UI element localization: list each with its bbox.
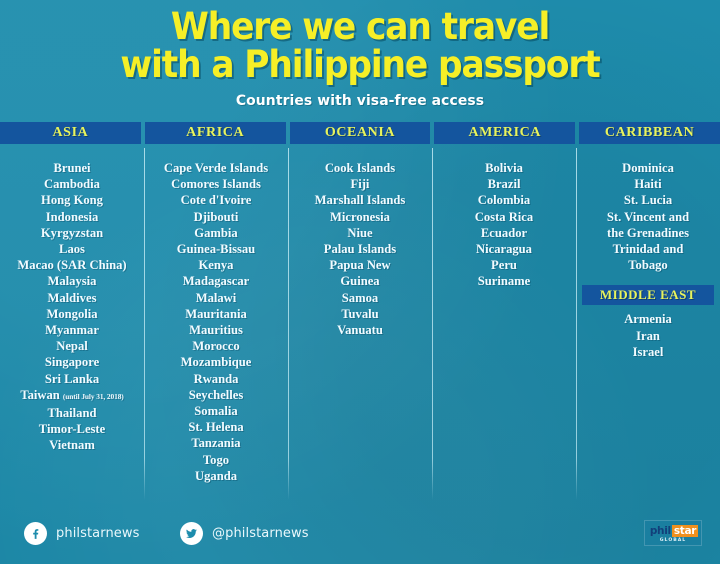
country-name: Vietnam [49,438,95,452]
country-entry: Mauritania [144,306,288,322]
column-africa: Cape Verde IslandsComores IslandsCote d'… [144,152,288,500]
column-america: BoliviaBrazilColombiaCosta RicaEcuadorNi… [432,152,576,500]
column-header-label: OCEANIA [325,125,395,141]
country-name: Trinidad and [613,242,684,256]
country-entry: Samoa [288,290,432,306]
country-entry: Kyrgyzstan [0,225,144,241]
country-entry: St. Vincent and [576,209,720,225]
twitter-link[interactable]: @philstarnews [180,522,309,545]
country-name: Micronesia [330,210,390,224]
country-entry: Brunei [0,160,144,176]
country-name: Brazil [488,177,521,191]
column-header-label: AFRICA [186,125,244,141]
country-name: Laos [59,242,85,256]
country-entry: Hong Kong [0,192,144,208]
column-header-caribbean: CARIBBEAN [579,122,720,144]
twitter-handle: @philstarnews [212,526,309,541]
country-note: (until July 31, 2018) [63,392,124,401]
country-name: Morocco [192,339,239,353]
country-entry: Haiti [576,176,720,192]
country-entry: Brazil [432,176,576,192]
country-entry: Sri Lanka [0,371,144,387]
country-name: St. Lucia [624,193,672,207]
philstar-logo: phil star GLOBAL [644,520,702,546]
country-entry: Maldives [0,290,144,306]
country-entry: Cote d'Ivoire [144,192,288,208]
country-entry: Colombia [432,192,576,208]
country-entry: Dominica [576,160,720,176]
country-entry: Rwanda [144,371,288,387]
country-name: St. Helena [188,420,243,434]
country-name: Israel [633,345,664,359]
country-entry: Cape Verde Islands [144,160,288,176]
infographic-root: Where we can travel with a Philippine pa… [0,0,720,564]
country-name: Timor-Leste [39,422,105,436]
country-entry: Niue [288,225,432,241]
country-entry: Comores Islands [144,176,288,192]
footer-bar: philstarnews @philstarnews phil star GLO… [0,504,720,564]
country-entry: St. Lucia [576,192,720,208]
logo-text-star: star [672,525,698,537]
country-name: Macao (SAR China) [17,258,126,272]
country-name: Maldives [48,291,97,305]
country-entry: Guinea-Bissau [144,241,288,257]
country-name: Somalia [194,404,237,418]
country-name: Tuvalu [341,307,378,321]
title-block: Where we can travel with a Philippine pa… [0,8,720,109]
country-entry: Cambodia [0,176,144,192]
country-name: Ecuador [481,226,527,240]
country-entry: Madagascar [144,273,288,289]
country-entry: Ecuador [432,225,576,241]
column-header-asia: ASIA [0,122,141,144]
country-name: Malaysia [48,274,97,288]
country-name: Haiti [634,177,661,191]
country-name: Uganda [195,469,237,483]
country-entry: Tobago [576,257,720,273]
country-name: Dominica [622,161,674,175]
country-entry: Israel [576,344,720,360]
country-entry: Trinidad and [576,241,720,257]
twitter-icon [180,522,203,545]
country-name: Tobago [628,258,667,272]
country-name: Bolivia [485,161,523,175]
country-name: Brunei [53,161,90,175]
country-entry: Myanmar [0,322,144,338]
country-entry: Laos [0,241,144,257]
country-name: Vanuatu [337,323,383,337]
country-name: Taiwan [20,388,59,402]
country-name: Gambia [194,226,237,240]
country-entry: Armenia [576,311,720,327]
country-name: Colombia [478,193,530,207]
country-name: Palau Islands [324,242,396,256]
country-name: Nicaragua [476,242,532,256]
country-entry: Kenya [144,257,288,273]
country-entry: Fiji [288,176,432,192]
country-name: Mauritania [185,307,247,321]
country-name: Mongolia [46,307,97,321]
sub-header-label: MIDDLE EAST [600,287,696,303]
country-entry: Mozambique [144,354,288,370]
column-header-band: ASIAAFRICAOCEANIAAMERICACARIBBEAN [0,122,720,144]
column-header-africa: AFRICA [145,122,286,144]
country-entry: Costa Rica [432,209,576,225]
country-entry: Iran [576,328,720,344]
country-name: Thailand [47,406,96,420]
country-entry: Tanzania [144,435,288,451]
page-subtitle: Countries with visa-free access [14,93,705,109]
column-asia: BruneiCambodiaHong KongIndonesiaKyrgyzst… [0,152,144,500]
country-name: Cape Verde Islands [164,161,268,175]
country-name: Peru [491,258,517,272]
country-name: Samoa [342,291,378,305]
column-oceania: Cook IslandsFijiMarshall IslandsMicrones… [288,152,432,500]
country-name: Armenia [624,312,672,326]
country-entry: Djibouti [144,209,288,225]
country-entry: Nepal [0,338,144,354]
logo-text-phil: phil [648,525,672,537]
country-entry: Tuvalu [288,306,432,322]
country-name: the Grenadines [607,226,689,240]
country-entry: Nicaragua [432,241,576,257]
country-entry: Peru [432,257,576,273]
country-entry: Vanuatu [288,322,432,338]
country-name: Nepal [56,339,87,353]
country-name: Papua New [329,258,390,272]
country-entry: Vietnam [0,437,144,453]
country-name: Tanzania [191,436,240,450]
country-entry: the Grenadines [576,225,720,241]
country-name: Togo [203,453,229,467]
country-entry: Marshall Islands [288,192,432,208]
logo-tagline: GLOBAL [660,538,686,543]
country-name: Djibouti [194,210,239,224]
country-name: Malawi [196,291,237,305]
country-name: Fiji [351,177,370,191]
column-header-oceania: OCEANIA [290,122,431,144]
country-entry: Palau Islands [288,241,432,257]
country-entry: St. Helena [144,419,288,435]
country-name: Seychelles [189,388,244,402]
country-entry: Somalia [144,403,288,419]
facebook-link[interactable]: philstarnews [24,522,140,545]
country-name: Guinea-Bissau [177,242,255,256]
country-entry: Timor-Leste [0,421,144,437]
country-entry: Singapore [0,354,144,370]
country-name: Mozambique [181,355,252,369]
country-entry: Cook Islands [288,160,432,176]
country-name: Niue [347,226,372,240]
country-entry: Micronesia [288,209,432,225]
country-entry: Uganda [144,468,288,484]
country-name: Kyrgyzstan [41,226,103,240]
column-header-label: ASIA [52,125,88,141]
country-name: Cook Islands [325,161,395,175]
country-name: Kenya [199,258,234,272]
country-entry: Taiwan (until July 31, 2018) [0,387,144,405]
country-name: Rwanda [194,372,239,386]
column-caribbean: DominicaHaitiSt. LuciaSt. Vincent andthe… [576,152,720,500]
country-name: Indonesia [46,210,99,224]
page-title-line-1: Where we can travel [25,8,695,46]
country-name: Mauritius [189,323,243,337]
country-entry: Papua New [288,257,432,273]
country-name: Hong Kong [41,193,103,207]
country-name: Suriname [478,274,530,288]
country-name: Sri Lanka [45,372,99,386]
country-name: Guinea [340,274,379,288]
country-name: Marshall Islands [315,193,406,207]
country-entry: Mongolia [0,306,144,322]
sub-header-middle-east: MIDDLE EAST [582,285,714,305]
column-header-label: AMERICA [468,125,541,141]
country-entry: Malawi [144,290,288,306]
column-header-america: AMERICA [434,122,575,144]
country-name: Madagascar [183,274,249,288]
country-entry: Morocco [144,338,288,354]
country-entry: Bolivia [432,160,576,176]
country-entry: Seychelles [144,387,288,403]
facebook-icon [24,522,47,545]
country-entry: Malaysia [0,273,144,289]
region-columns: BruneiCambodiaHong KongIndonesiaKyrgyzst… [0,152,720,500]
country-name: Singapore [45,355,99,369]
facebook-handle: philstarnews [56,526,140,541]
country-entry: Guinea [288,273,432,289]
country-entry: Suriname [432,273,576,289]
country-name: Comores Islands [171,177,261,191]
country-entry: Mauritius [144,322,288,338]
country-name: Cambodia [44,177,100,191]
country-name: Costa Rica [475,210,533,224]
country-name: Myanmar [45,323,99,337]
country-name: Cote d'Ivoire [181,193,252,207]
country-name: Iran [636,329,660,343]
country-entry: Indonesia [0,209,144,225]
country-entry: Thailand [0,405,144,421]
country-entry: Togo [144,452,288,468]
page-title-line-2: with a Philippine passport [25,46,695,84]
country-entry: Gambia [144,225,288,241]
column-header-label: CARIBBEAN [605,125,694,141]
country-name: St. Vincent and [607,210,689,224]
country-entry: Macao (SAR China) [0,257,144,273]
